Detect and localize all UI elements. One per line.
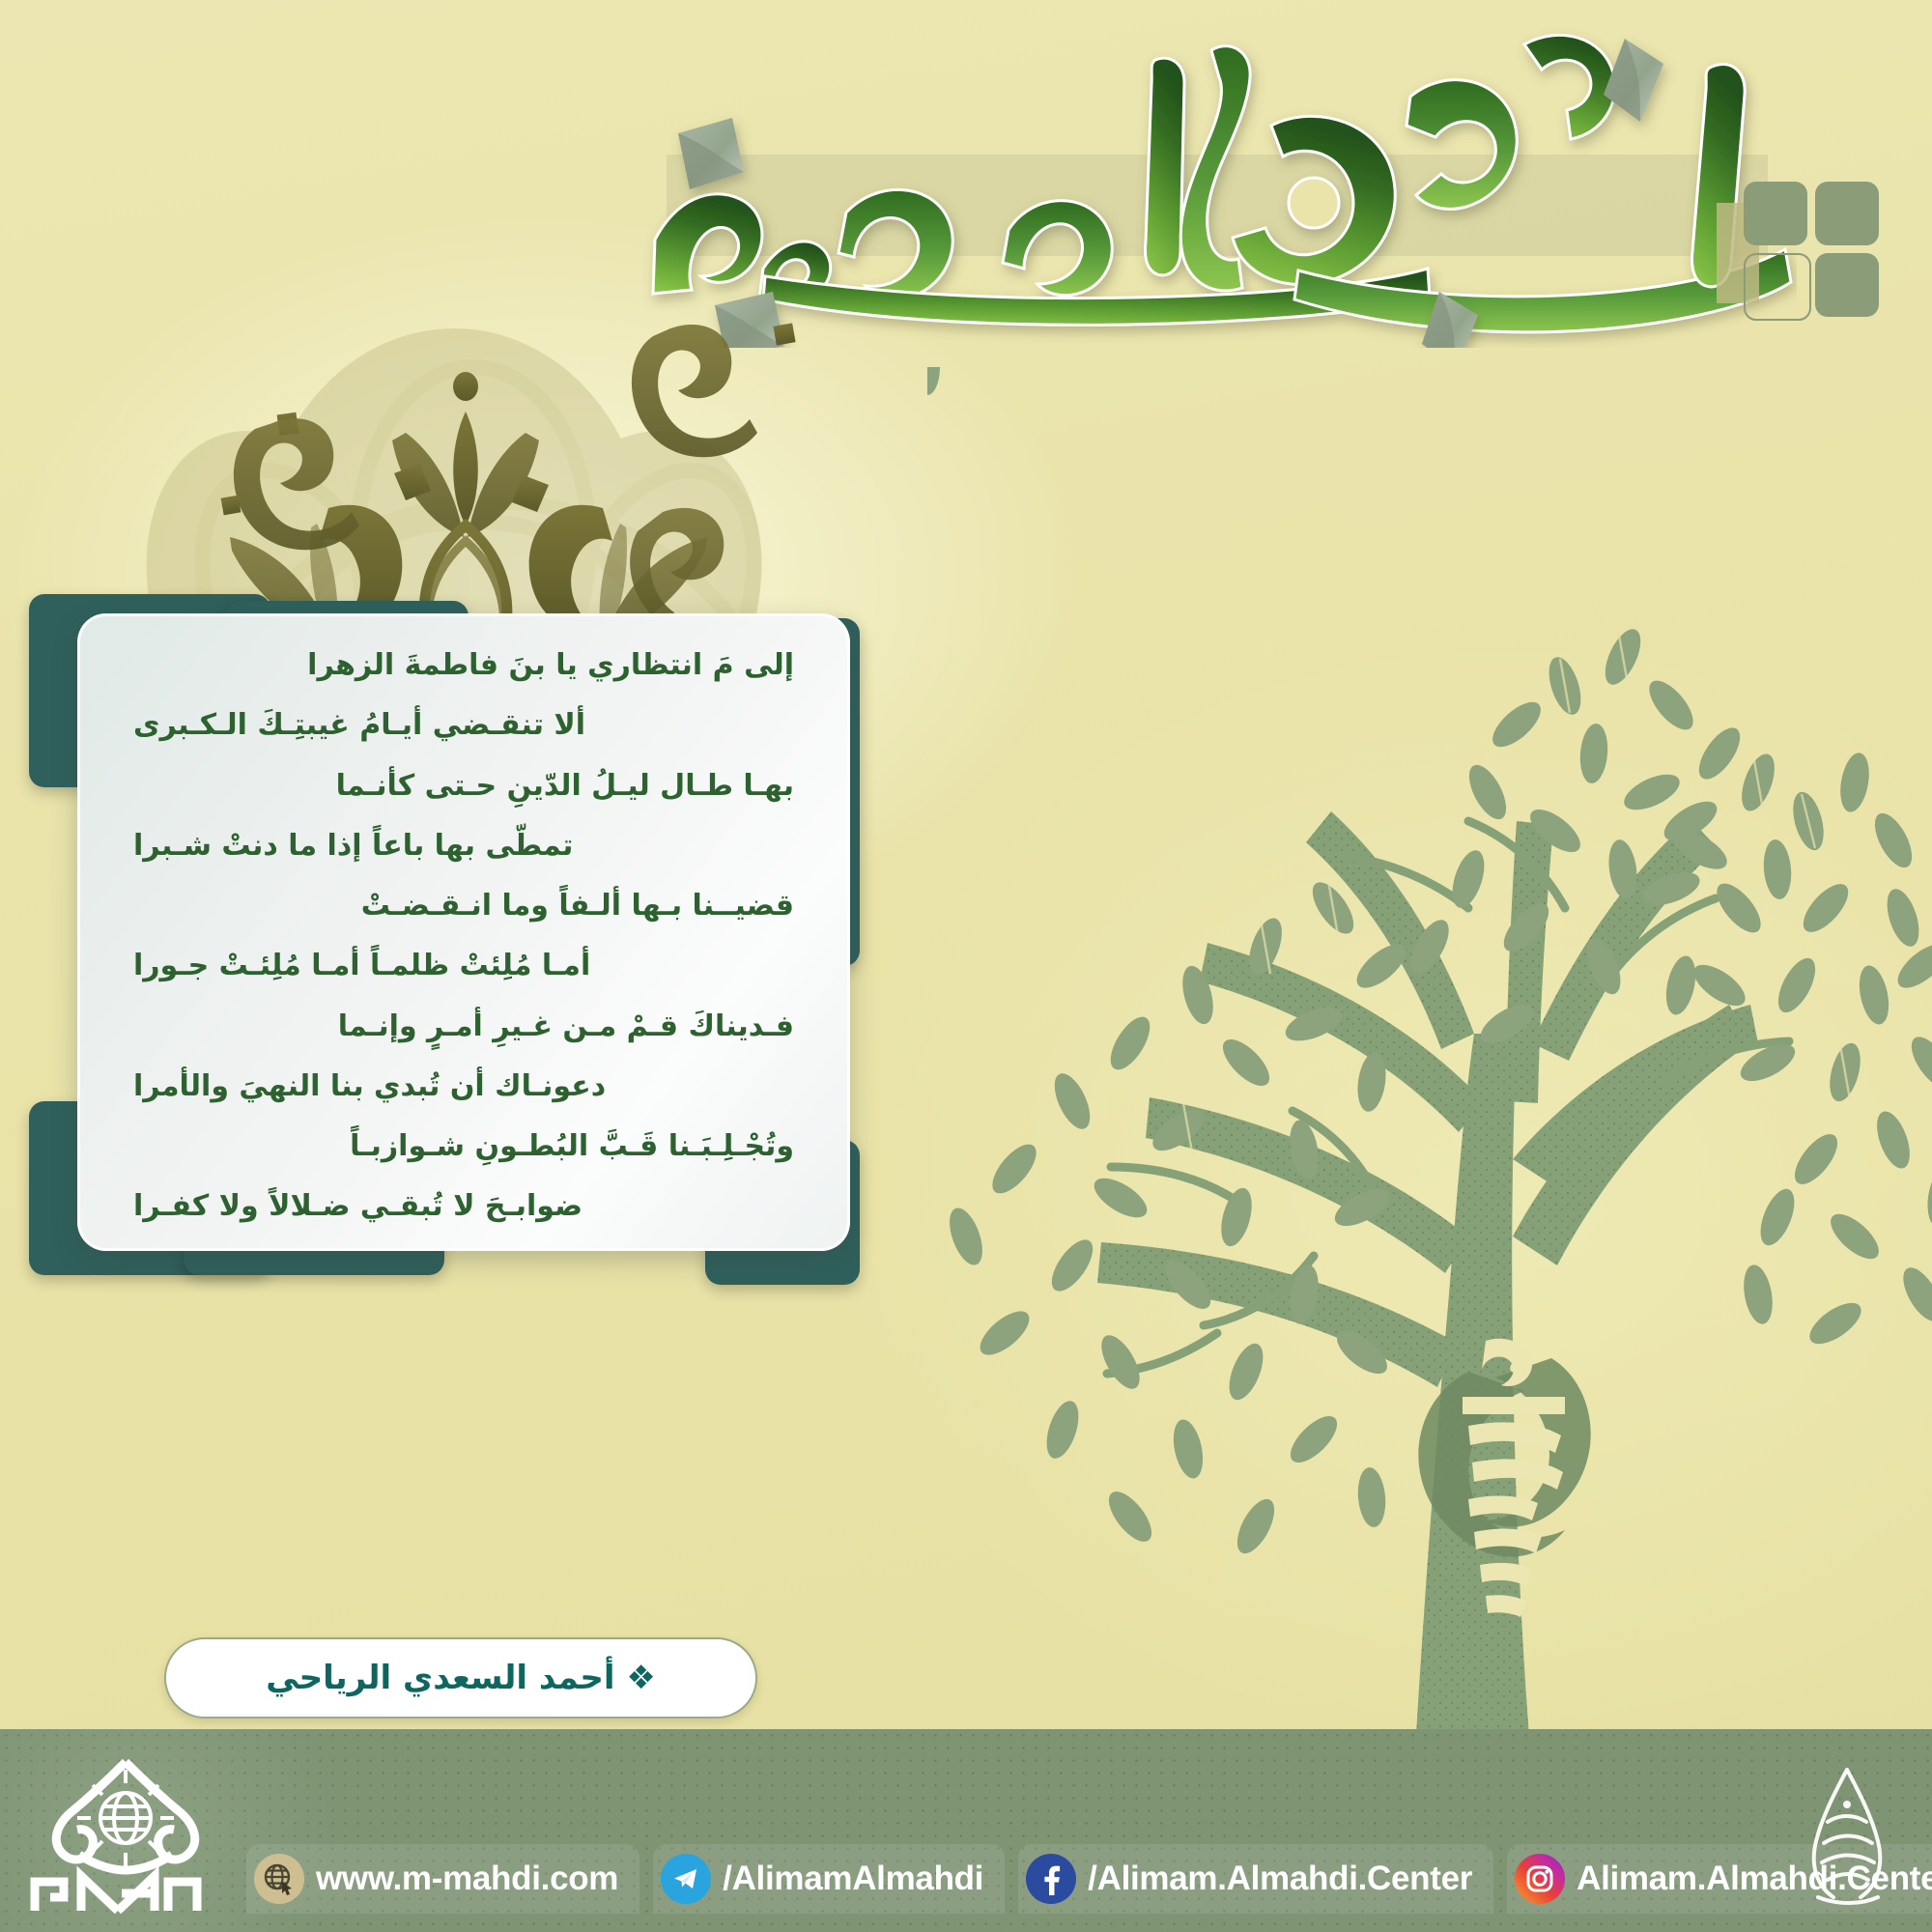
poem-line-7: فـديناكَ قـمْ مـن غـيرِ أمـرٍ وإنـما <box>120 1011 808 1042</box>
author-name: ❖ أحمد السعدي الرياحي <box>266 1659 656 1697</box>
corner-signature-icon <box>1789 1762 1905 1907</box>
poem-card-zone: إلى مَ انتظاري يا بنَ فاطمةَ الزهرا ألا … <box>29 580 1053 1285</box>
brand-logo-icon <box>21 1750 234 1915</box>
decor-squares-group <box>1744 182 1889 327</box>
social-link-website[interactable]: www.m-mahdi.com <box>246 1844 639 1914</box>
poem-line-2: ألا تنقـضي أيـامُ غيبتِـكَ الـكـبرى <box>120 710 808 741</box>
poem-body: إلى مَ انتظاري يا بنَ فاطمةَ الزهرا ألا … <box>77 613 850 1251</box>
page-title <box>618 10 1797 348</box>
poem-line-5: قضيــنا بـها ألـفاً وما انـقـضـتْ <box>120 891 808 922</box>
social-link-telegram[interactable]: /AlimamAlmahdi <box>653 1844 1005 1914</box>
facebook-label: /Alimam.Almahdi.Center <box>1088 1860 1472 1898</box>
poster-canvas: إلى مَ انتظاري يا بنَ فاطمةَ الزهرا ألا … <box>0 0 1932 1932</box>
poem-line-4: تمطّى بها باعاً إذا ما دنتْ شـبرا <box>120 831 808 862</box>
poem-line-10: ضوابـحَ لا تُبقـي ضـلالاً ولا كفـرا <box>120 1191 808 1222</box>
instagram-icon <box>1515 1854 1565 1904</box>
decor-square-4 <box>1815 253 1879 317</box>
poem-line-1: إلى مَ انتظاري يا بنَ فاطمةَ الزهرا <box>120 650 808 681</box>
social-links-row: www.m-mahdi.com /AlimamAlmahdi /Ali <box>246 1841 1932 1917</box>
poem-line-9: وتُجْـلِـبَـنا قَـبَّ البُطـونِ شـوازبـا… <box>120 1131 808 1162</box>
poem-line-3: بهـا طـال ليـلُ الدّينِ حـتى كأنـما <box>120 771 808 802</box>
footer-bar: www.m-mahdi.com /AlimamAlmahdi /Ali <box>0 1729 1932 1932</box>
poem-card: إلى مَ انتظاري يا بنَ فاطمةَ الزهرا ألا … <box>77 613 850 1251</box>
decor-square-3-outline <box>1744 253 1811 321</box>
decor-square-1 <box>1744 182 1807 245</box>
author-pill: ❖ أحمد السعدي الرياحي <box>164 1637 757 1719</box>
telegram-icon <box>661 1854 711 1904</box>
website-label: www.m-mahdi.com <box>316 1860 618 1898</box>
facebook-icon <box>1026 1854 1076 1904</box>
stylized-leafy-tree-icon <box>927 367 1932 1835</box>
social-link-facebook[interactable]: /Alimam.Almahdi.Center <box>1018 1844 1493 1914</box>
decor-square-2 <box>1815 182 1879 245</box>
telegram-label: /AlimamAlmahdi <box>723 1860 983 1898</box>
poem-line-6: أمـا مُلِئتْ ظلمـاً أمـا مُلِئـتْ جـورا <box>120 951 808 981</box>
globe-icon <box>254 1854 304 1904</box>
poem-line-8: دعونـاك أن تُبدي بنا النهيَ والأمرا <box>120 1071 808 1102</box>
